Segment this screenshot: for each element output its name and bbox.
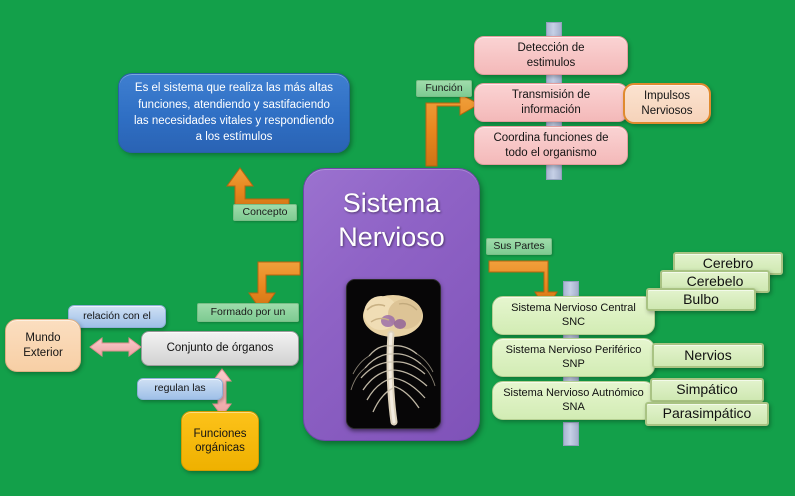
label-funcion[interactable]: Función bbox=[416, 80, 472, 97]
funcion-box-impulsos-nerviosos[interactable]: Impulsos Nerviosos bbox=[623, 83, 711, 124]
box-mundo-exterior[interactable]: Mundo Exterior bbox=[5, 319, 81, 372]
sub-box-bulbo[interactable]: Bulbo bbox=[646, 288, 756, 311]
box-conjunto-de-organos[interactable]: Conjunto de órganos bbox=[141, 331, 299, 366]
label-relacion-con-el[interactable]: relación con el bbox=[68, 305, 166, 328]
concept-text-line4: a los estímulos bbox=[134, 129, 334, 145]
funcion-box-transmision-line1: Transmisión de bbox=[512, 88, 590, 102]
brain-and-spinal-cord-photo bbox=[346, 279, 441, 429]
funciones-organicas-line1: Funciones bbox=[193, 427, 246, 441]
concept-text-line2: funciones, atendiendo y sastifaciendo bbox=[134, 97, 334, 113]
central-title-line2: Nervioso bbox=[338, 221, 445, 255]
label-sus-partes[interactable]: Sus Partes bbox=[486, 238, 552, 255]
funcion-box-deteccion[interactable]: Detección de estimulos bbox=[474, 36, 628, 75]
sub-box-nervios[interactable]: Nervios bbox=[652, 343, 764, 368]
impulsos-line1: Impulsos bbox=[644, 89, 690, 103]
impulsos-line2: Nerviosos bbox=[641, 104, 692, 118]
partes-box-snc-line1: Sistema Nervioso Central bbox=[511, 302, 636, 316]
partes-box-sna-line2: SNA bbox=[562, 401, 585, 415]
label-regulan-las[interactable]: regulan las bbox=[137, 378, 223, 400]
diagram-canvas: Sistema Nervioso bbox=[0, 0, 795, 496]
partes-box-sna-line1: Sistema Nervioso Autnómico bbox=[503, 387, 644, 401]
arrow-relacion-double bbox=[90, 338, 141, 356]
funcion-box-coordina-line2: todo el organismo bbox=[505, 146, 596, 160]
funcion-box-transmision[interactable]: Transmisión de información bbox=[474, 83, 628, 122]
box-funciones-organicas[interactable]: Funciones orgánicas bbox=[181, 411, 259, 471]
partes-box-snp-line2: SNP bbox=[562, 358, 585, 372]
sub-box-simpatico[interactable]: Simpático bbox=[650, 378, 764, 402]
funcion-box-deteccion-line1: Detección de bbox=[517, 41, 584, 55]
funciones-organicas-line2: orgánicas bbox=[195, 441, 245, 455]
concept-description-box[interactable]: Es el sistema que realiza las más altas … bbox=[118, 73, 350, 153]
funcion-box-coordina-line1: Coordina funciones de bbox=[493, 131, 608, 145]
partes-box-snc[interactable]: Sistema Nervioso Central SNC bbox=[492, 296, 655, 335]
central-title-line1: Sistema bbox=[343, 187, 441, 221]
funcion-box-deteccion-line2: estimulos bbox=[527, 56, 576, 70]
label-formado-por-un[interactable]: Formado por un bbox=[197, 303, 299, 322]
concept-text-line1: Es el sistema que realiza las más altas bbox=[134, 80, 334, 96]
mundo-exterior-line1: Mundo bbox=[25, 331, 60, 345]
partes-box-snp[interactable]: Sistema Nervioso Periférico SNP bbox=[492, 338, 655, 377]
funcion-box-transmision-line2: información bbox=[521, 103, 580, 117]
concept-text-line3: las necesidades vitales y respondiendo bbox=[134, 113, 334, 129]
funcion-box-coordina[interactable]: Coordina funciones de todo el organismo bbox=[474, 126, 628, 165]
partes-box-sna[interactable]: Sistema Nervioso Autnómico SNA bbox=[492, 381, 655, 420]
arrow-funcion bbox=[426, 94, 479, 166]
partes-box-snp-line1: Sistema Nervioso Periférico bbox=[506, 344, 642, 358]
connector-bar-partes-bottom bbox=[563, 422, 579, 446]
label-concepto[interactable]: Concepto bbox=[233, 204, 297, 221]
mundo-exterior-line2: Exterior bbox=[23, 346, 63, 360]
partes-box-snc-line2: SNC bbox=[562, 316, 585, 330]
sub-box-parasimpatico[interactable]: Parasimpático bbox=[645, 402, 769, 426]
